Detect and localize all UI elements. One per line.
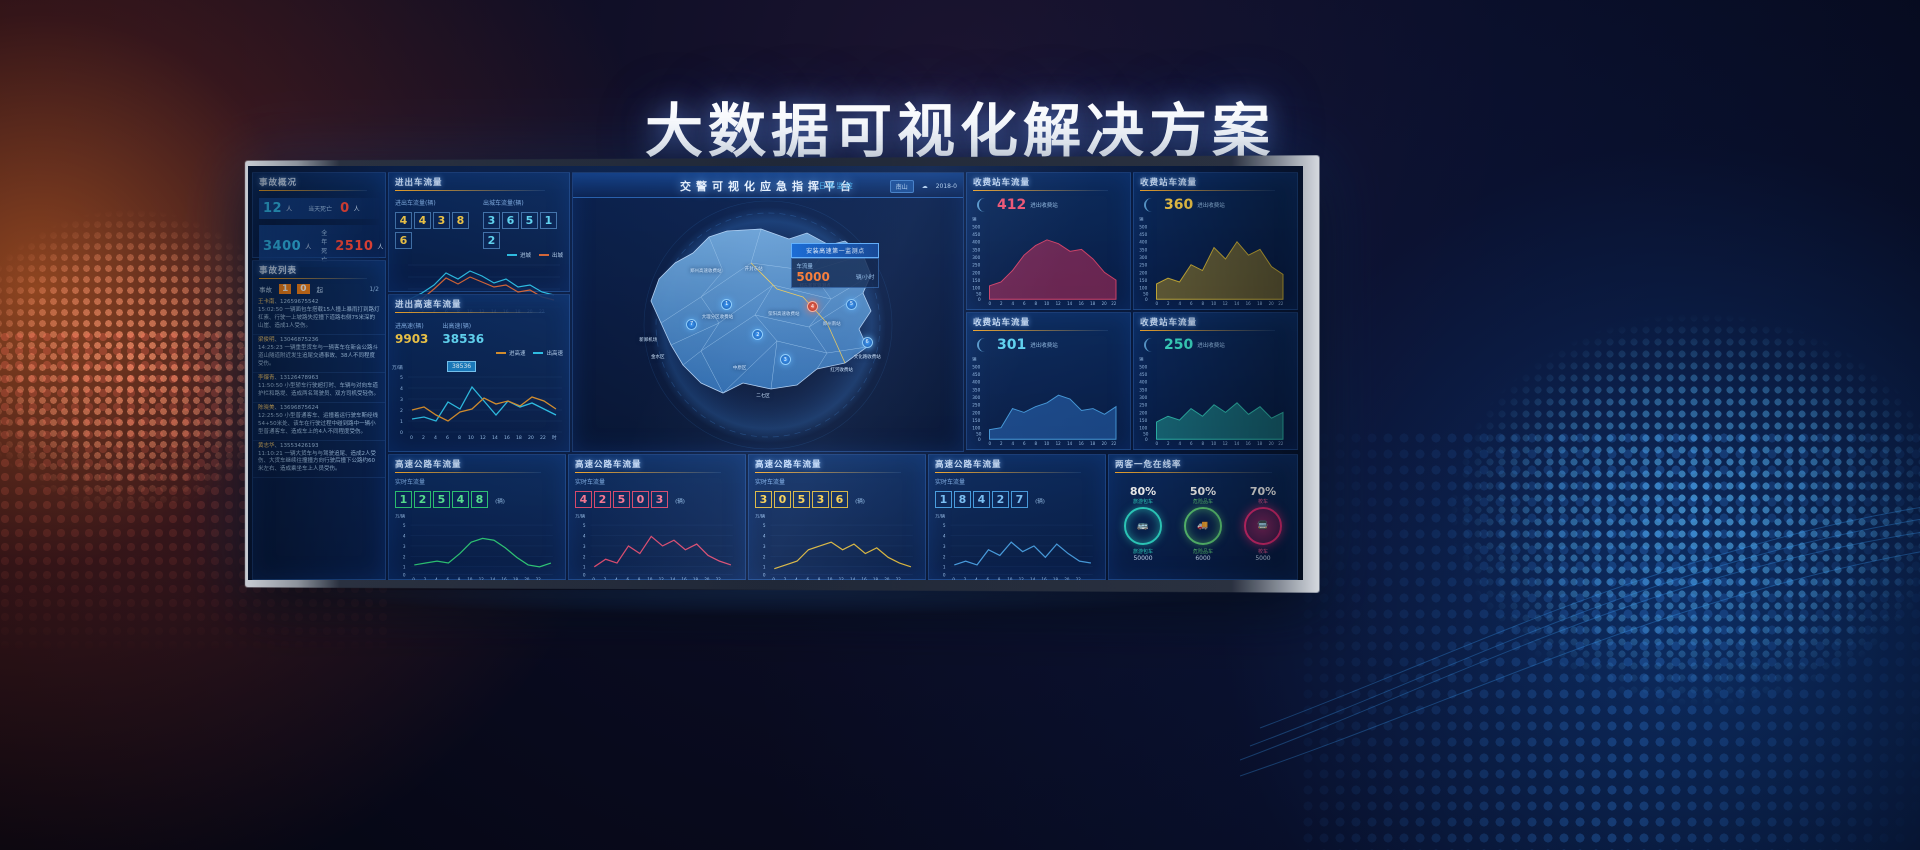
toll-chart-3: 辆 500450400 350300250 200150100 500 024 … xyxy=(967,353,1127,445)
map-poi-5[interactable]: 5 xyxy=(846,299,857,310)
list-item-name: 梁俊明 xyxy=(258,337,275,343)
map-label: 金水区 xyxy=(651,354,665,360)
svg-text:12: 12 xyxy=(1056,441,1062,445)
today-total-unit: 人 xyxy=(286,204,292,213)
svg-text:150: 150 xyxy=(972,278,980,283)
svg-text:4: 4 xyxy=(975,577,978,580)
svg-text:4: 4 xyxy=(1012,441,1015,445)
svg-text:4: 4 xyxy=(763,533,766,538)
accident-count-row: 事故 1 0 起 1/2 xyxy=(253,281,385,297)
svg-text:18: 18 xyxy=(1090,441,1096,445)
gauge-pct: 70% xyxy=(1244,485,1282,498)
svg-text:2: 2 xyxy=(400,408,403,414)
gauge-count: 50000 xyxy=(1124,555,1162,562)
svg-text:14: 14 xyxy=(1234,301,1240,305)
highway-digits: 12548 (辆) xyxy=(389,486,565,508)
svg-text:10: 10 xyxy=(1211,441,1217,445)
highway-chart-1: 万/辆 543 210 024 6810 121416 182022 xyxy=(389,508,561,580)
svg-text:0: 0 xyxy=(400,430,403,436)
highway-sub: 实时车流量 xyxy=(569,475,745,486)
accident-list-pager[interactable]: 1/2 xyxy=(369,286,379,293)
svg-text:6: 6 xyxy=(627,577,630,580)
platform-mode-tag[interactable]: 日常监控 xyxy=(819,181,855,191)
signal-icon xyxy=(1144,338,1160,352)
svg-text:14: 14 xyxy=(670,577,676,580)
panel-highway-4: 高速公路车流量 实时车流量 18427 (辆) 万/辆 543 210 xyxy=(928,454,1106,580)
year-death-label: 全年死亡 xyxy=(321,228,327,264)
inout-out-sub: 出城车流量(辆) xyxy=(483,196,563,207)
map-label: 红河收费站 xyxy=(830,367,853,373)
highway-digits: 42503 (辆) xyxy=(569,486,745,508)
svg-text:6: 6 xyxy=(1023,441,1026,445)
svg-text:20: 20 xyxy=(528,435,534,441)
panel-highway-1: 高速公路车流量 实时车流量 12548 (辆) 万/辆 543 210 xyxy=(388,454,566,580)
list-item[interactable]: 李爆青、13126478963 11:50:50 小型轿车行驶超打时、车辆与对向… xyxy=(253,373,385,403)
svg-text:辆: 辆 xyxy=(1139,216,1143,223)
svg-text:50: 50 xyxy=(1143,291,1149,296)
toll-kpi: 301 进出收费站 xyxy=(967,333,1130,353)
svg-text:2: 2 xyxy=(763,554,766,559)
svg-text:2: 2 xyxy=(1167,301,1170,305)
list-item[interactable]: 黄志华、13553426193 11:10:21 一辆大货车与与驾驶追尾、造成2… xyxy=(253,441,385,479)
svg-text:4: 4 xyxy=(400,386,403,392)
svg-text:2: 2 xyxy=(1000,301,1003,305)
svg-text:10: 10 xyxy=(1007,577,1013,580)
gauge-type-label: 危险品车 xyxy=(1184,548,1222,555)
toll-label: 进出收费站 xyxy=(1197,341,1225,349)
year-death-unit: 人 xyxy=(377,242,383,251)
gauge-hazmat-truck[interactable]: 50% 危险品车 🚚 危险品车 6000 xyxy=(1184,485,1222,562)
svg-text:0: 0 xyxy=(403,572,406,577)
svg-text:18: 18 xyxy=(1053,577,1059,580)
svg-text:万/辆: 万/辆 xyxy=(575,512,585,518)
svg-text:万/辆: 万/辆 xyxy=(755,512,765,518)
highway-chart-3: 万/辆 543 210 024 6810 121416 182022 xyxy=(749,508,921,580)
list-item-time: 15:02:50 xyxy=(258,307,283,313)
dashboard-canvas: 事故概况 12 人 当天死亡 0 人 3400 人 全年死亡 2510 人 xyxy=(248,166,1303,580)
svg-text:6: 6 xyxy=(447,577,450,580)
svg-text:22: 22 xyxy=(1278,301,1284,305)
highway-inout-title: 进出高速车流量 xyxy=(389,295,569,315)
svg-text:1: 1 xyxy=(403,565,406,570)
list-item-name: 李爆青 xyxy=(258,375,275,381)
svg-text:4: 4 xyxy=(583,533,586,538)
svg-text:100: 100 xyxy=(972,286,980,291)
online-rate-title: 两客一危在线率 xyxy=(1109,455,1297,475)
highway-title: 高速公路车流量 xyxy=(569,455,745,475)
svg-text:450: 450 xyxy=(972,372,980,377)
inout-in-block: 进出车流量(辆) 44386 xyxy=(395,196,475,249)
accident-count-unit: 起 xyxy=(317,284,324,294)
province-map xyxy=(573,197,963,451)
svg-text:辆: 辆 xyxy=(972,356,976,363)
svg-text:16: 16 xyxy=(1246,441,1252,445)
gauge-tour-bus[interactable]: 80% 旅游包车 🚌 旅游包车 50000 xyxy=(1124,485,1162,562)
svg-text:10: 10 xyxy=(468,435,474,441)
map-label: 荥阳高速收费站 xyxy=(768,311,800,317)
inout-flow-title: 进出车流量 xyxy=(389,173,569,193)
screen-glow xyxy=(300,590,1250,616)
svg-text:22: 22 xyxy=(1278,441,1284,445)
stat-row-today: 12 人 当天死亡 0 人 xyxy=(259,198,379,219)
svg-text:10: 10 xyxy=(647,577,653,580)
highway-title: 高速公路车流量 xyxy=(389,455,565,475)
list-item-time: 11:50:50 xyxy=(258,383,283,389)
panel-toll-1: 收费站车流量 412 进出收费站 辆 500450400 350300250 2… xyxy=(966,172,1131,310)
list-item[interactable]: 陈晓美、13696875624 12:25:50 小型普通客车、运撞着运行驶车斯… xyxy=(253,403,385,441)
list-item[interactable]: 梁俊明、13046875236 14:25:23 一辆重型货车与一辆客车在新会公… xyxy=(253,335,385,373)
svg-text:8: 8 xyxy=(818,577,821,580)
schoolbus-icon: 🚍 xyxy=(1244,507,1282,545)
accident-overview-title: 事故概况 xyxy=(253,173,385,193)
svg-text:10: 10 xyxy=(1044,441,1050,445)
svg-text:0: 0 xyxy=(1145,437,1148,442)
svg-text:20: 20 xyxy=(1269,441,1275,445)
svg-text:辆: 辆 xyxy=(1139,356,1143,363)
svg-text:12: 12 xyxy=(480,435,486,441)
map-label: 文化路收费站 xyxy=(854,354,881,360)
svg-text:10: 10 xyxy=(1211,301,1217,305)
map-label: 开封东站 xyxy=(745,266,763,272)
highway-sub: 实时车流量 xyxy=(389,475,565,486)
gauge-name: 校车 xyxy=(1244,498,1282,505)
svg-text:1: 1 xyxy=(400,419,403,425)
panel-toll-3: 收费站车流量 301 进出收费站 辆 500450400 350300250 2… xyxy=(966,312,1131,450)
svg-text:500: 500 xyxy=(1139,224,1147,229)
svg-text:350: 350 xyxy=(1139,387,1147,392)
svg-text:10: 10 xyxy=(467,577,473,580)
svg-text:8: 8 xyxy=(1035,441,1038,445)
panel-inout-flow: 进出车流量 进出车流量(辆) 44386 出城车流量(辆) 36512 xyxy=(388,172,570,292)
svg-text:万/辆: 万/辆 xyxy=(392,364,403,371)
list-item-phone: 、13126478963 xyxy=(275,375,319,381)
svg-text:4: 4 xyxy=(943,533,946,538)
svg-text:5: 5 xyxy=(403,523,406,528)
svg-text:3: 3 xyxy=(583,544,586,549)
highway-digits: 30536 (辆) xyxy=(749,486,925,508)
list-item-phone: 、12659675542 xyxy=(275,299,319,305)
svg-text:2: 2 xyxy=(943,554,946,559)
svg-text:100: 100 xyxy=(972,426,980,431)
svg-text:18: 18 xyxy=(516,435,522,441)
svg-text:500: 500 xyxy=(972,364,980,369)
svg-text:4: 4 xyxy=(434,435,437,441)
svg-text:150: 150 xyxy=(1139,418,1147,423)
svg-text:4: 4 xyxy=(615,577,618,580)
list-item-name: 黄志华 xyxy=(258,443,275,449)
gauge-type-label: 旅游包车 xyxy=(1124,548,1162,555)
svg-text:8: 8 xyxy=(1202,441,1205,445)
list-item-time: 14:25:23 xyxy=(258,345,283,351)
svg-text:250: 250 xyxy=(1139,263,1147,268)
svg-text:12: 12 xyxy=(479,577,485,580)
toll-value: 301 xyxy=(997,337,1026,353)
svg-text:16: 16 xyxy=(502,577,508,580)
map-poi-6[interactable]: 6 xyxy=(862,337,873,348)
svg-text:5: 5 xyxy=(943,523,946,528)
list-item-phone: 、13553426193 xyxy=(275,443,319,449)
svg-text:16: 16 xyxy=(1079,301,1085,305)
list-item-name: 王卡南 xyxy=(258,299,275,305)
year-death-value: 2510 xyxy=(335,239,373,254)
accident-list-body[interactable]: 王卡南、12659675542 15:02:50 一辆面包车搭载15人撞上暴雨打… xyxy=(253,297,385,478)
map-label: 新郑机场 xyxy=(639,337,657,343)
svg-text:18: 18 xyxy=(1257,441,1263,445)
svg-text:12: 12 xyxy=(1019,577,1025,580)
svg-text:350: 350 xyxy=(1139,247,1147,252)
svg-text:18: 18 xyxy=(693,577,699,580)
gauge-count: 5000 xyxy=(1244,555,1282,562)
svg-text:14: 14 xyxy=(1234,441,1240,445)
svg-text:500: 500 xyxy=(972,224,980,229)
svg-text:0: 0 xyxy=(978,297,981,302)
svg-text:300: 300 xyxy=(1139,395,1147,400)
svg-text:1: 1 xyxy=(943,565,946,570)
year-total-unit: 人 xyxy=(305,242,311,251)
svg-text:18: 18 xyxy=(1257,301,1263,305)
signal-icon xyxy=(977,338,993,352)
svg-text:2: 2 xyxy=(964,577,967,580)
svg-text:12: 12 xyxy=(1223,441,1229,445)
list-item-name: 陈晓美 xyxy=(258,405,275,411)
svg-text:200: 200 xyxy=(1139,410,1147,415)
svg-text:22: 22 xyxy=(896,577,902,580)
svg-text:0: 0 xyxy=(1156,441,1159,445)
panel-accident-list: 事故列表 事故 1 0 起 1/2 王卡南、12659675542 15:02:… xyxy=(252,260,386,580)
svg-text:8: 8 xyxy=(458,577,461,580)
signal-icon xyxy=(977,198,993,212)
toll-kpi: 412 进出收费站 xyxy=(967,193,1130,213)
location-badge[interactable]: 南山 xyxy=(890,180,914,193)
svg-text:2: 2 xyxy=(403,554,406,559)
gauge-count: 6000 xyxy=(1184,555,1222,562)
svg-text:20: 20 xyxy=(1102,301,1108,305)
svg-text:300: 300 xyxy=(1139,255,1147,260)
svg-text:4: 4 xyxy=(795,577,798,580)
highway-sub: 实时车流量 xyxy=(749,475,925,486)
svg-text:100: 100 xyxy=(1139,426,1147,431)
toll-label: 进出收费站 xyxy=(1197,201,1225,209)
header-right-meta: 南山 ☁ 2018-0 xyxy=(890,180,957,193)
svg-text:14: 14 xyxy=(490,577,496,580)
svg-text:300: 300 xyxy=(972,255,980,260)
panel-accident-overview: 事故概况 12 人 当天死亡 0 人 3400 人 全年死亡 2510 人 xyxy=(252,172,386,258)
svg-text:8: 8 xyxy=(1035,301,1038,305)
signal-icon xyxy=(1144,198,1160,212)
highway-in-sub: 进高速(辆) xyxy=(395,319,428,330)
toll-title: 收费站车流量 xyxy=(1134,313,1297,333)
map-label: 中原区 xyxy=(733,365,747,371)
dashboard-header: 交警可视化应急指挥平台 日常监控 南山 ☁ 2018-0 xyxy=(573,173,963,198)
svg-text:4: 4 xyxy=(435,577,438,580)
panel-online-rate: 两客一危在线率 80% 旅游包车 🚌 旅游包车 50000 50% 危险品车 🚚… xyxy=(1108,454,1298,580)
toll-title: 收费站车流量 xyxy=(1134,173,1297,193)
svg-text:2: 2 xyxy=(424,577,427,580)
svg-text:0: 0 xyxy=(583,572,586,577)
panel-highway-3: 高速公路车流量 实时车流量 30536 (辆) 万/辆 543 210 xyxy=(748,454,926,580)
toll-value: 250 xyxy=(1164,337,1193,353)
toll-value: 412 xyxy=(997,197,1026,213)
svg-text:300: 300 xyxy=(972,395,980,400)
svg-text:10: 10 xyxy=(827,577,833,580)
svg-text:200: 200 xyxy=(972,270,980,275)
map-poi-1[interactable]: 1 xyxy=(721,299,732,310)
svg-text:0: 0 xyxy=(1145,297,1148,302)
today-total-value: 12 xyxy=(263,201,282,216)
toll-value: 360 xyxy=(1164,197,1193,213)
inout-in-sub: 进出车流量(辆) xyxy=(395,196,475,207)
svg-text:2: 2 xyxy=(422,435,425,441)
toll-label: 进出收费站 xyxy=(1030,201,1058,209)
svg-text:16: 16 xyxy=(682,577,688,580)
svg-text:16: 16 xyxy=(1042,577,1048,580)
callout-label: 车流量 xyxy=(796,262,874,270)
year-total-value: 3400 xyxy=(263,239,301,254)
inout-legend: 进城 出城 xyxy=(389,251,569,259)
svg-text:14: 14 xyxy=(850,577,856,580)
svg-text:6: 6 xyxy=(1190,301,1193,305)
svg-text:4: 4 xyxy=(1012,301,1015,305)
highway-in-value: 9903 xyxy=(395,332,428,346)
svg-text:5: 5 xyxy=(583,523,586,528)
svg-text:22: 22 xyxy=(540,435,546,441)
svg-text:12: 12 xyxy=(1056,301,1062,305)
list-item-phone: 、13696875624 xyxy=(275,405,319,411)
svg-text:22: 22 xyxy=(1076,577,1082,580)
svg-text:400: 400 xyxy=(1139,380,1147,385)
list-item-time: 12:25:50 xyxy=(258,413,283,419)
svg-text:6: 6 xyxy=(1023,301,1026,305)
svg-text:辆: 辆 xyxy=(972,216,976,223)
svg-text:50: 50 xyxy=(976,431,982,436)
page-title: 大数据可视化解决方案 xyxy=(0,84,1920,168)
svg-text:450: 450 xyxy=(1139,372,1147,377)
svg-text:0: 0 xyxy=(943,572,946,577)
svg-text:20: 20 xyxy=(884,577,890,580)
svg-text:400: 400 xyxy=(1139,240,1147,245)
svg-text:万/辆: 万/辆 xyxy=(935,512,945,518)
svg-text:14: 14 xyxy=(1067,441,1073,445)
callout-unit: 辆/小时 xyxy=(856,273,874,281)
header-date: 2018-0 xyxy=(936,183,957,190)
truck-icon: 🚚 xyxy=(1184,507,1222,545)
svg-text:2: 2 xyxy=(784,577,787,580)
svg-text:12: 12 xyxy=(839,577,845,580)
svg-text:400: 400 xyxy=(972,380,980,385)
svg-text:20: 20 xyxy=(1269,301,1275,305)
svg-text:3: 3 xyxy=(943,544,946,549)
svg-text:14: 14 xyxy=(492,435,498,441)
gauge-type-label: 校车 xyxy=(1244,548,1282,555)
svg-text:250: 250 xyxy=(1139,403,1147,408)
toll-kpi: 360 进出收费站 xyxy=(1134,193,1297,213)
svg-text:6: 6 xyxy=(987,577,990,580)
svg-text:8: 8 xyxy=(458,435,461,441)
svg-text:6: 6 xyxy=(1190,441,1193,445)
svg-text:8: 8 xyxy=(998,577,1001,580)
toll-label: 进出收费站 xyxy=(1030,341,1058,349)
highway-inout-chart: 万/辆 543 210 024 6810 xyxy=(389,357,567,441)
svg-text:0: 0 xyxy=(989,441,992,445)
map-canvas[interactable]: 1 2 3 4 5 6 7 郑州高速收费站 开封东站 大理分区收费站 荥阳高速收… xyxy=(573,197,963,451)
svg-text:5: 5 xyxy=(763,523,766,528)
svg-text:22: 22 xyxy=(716,577,722,580)
toll-chart-2: 辆 500450400 350300250 200150100 500 024 … xyxy=(1134,213,1294,305)
svg-text:400: 400 xyxy=(972,240,980,245)
svg-text:150: 150 xyxy=(1139,278,1147,283)
svg-text:3: 3 xyxy=(763,544,766,549)
svg-text:20: 20 xyxy=(704,577,710,580)
highway-chart-4: 万/辆 543 210 024 6810 121416 182022 xyxy=(929,508,1101,580)
map-label: 大理分区收费站 xyxy=(702,314,734,320)
highway-chart-2: 万/辆 543 210 024 6810 121416 182022 xyxy=(569,508,741,580)
svg-text:2: 2 xyxy=(1167,441,1170,445)
panel-toll-2: 收费站车流量 360 进出收费站 辆 500450400 350300250 2… xyxy=(1133,172,1298,310)
highway-title: 高速公路车流量 xyxy=(749,455,925,475)
callout-value: 5000 xyxy=(796,270,829,284)
svg-text:14: 14 xyxy=(1030,577,1036,580)
svg-text:1: 1 xyxy=(763,565,766,570)
svg-text:0: 0 xyxy=(952,577,955,580)
svg-text:6: 6 xyxy=(446,435,449,441)
map-callout: 安装高速第一监测点 车流量 5000 辆/小时 xyxy=(791,243,879,288)
svg-text:8: 8 xyxy=(638,577,641,580)
today-death-value: 0 xyxy=(340,201,350,216)
highway-out-sub: 出高速(辆) xyxy=(442,319,484,330)
svg-text:16: 16 xyxy=(504,435,510,441)
gauge-school-bus[interactable]: 70% 校车 🚍 校车 5000 xyxy=(1244,485,1282,562)
svg-text:0: 0 xyxy=(772,577,775,580)
toll-kpi: 250 进出收费站 xyxy=(1134,333,1297,353)
svg-text:0: 0 xyxy=(1156,301,1159,305)
map-poi-7[interactable]: 7 xyxy=(686,319,697,330)
svg-text:6: 6 xyxy=(807,577,810,580)
map-label: 郑州高速收费站 xyxy=(690,268,722,274)
svg-text:450: 450 xyxy=(1139,232,1147,237)
svg-text:时: 时 xyxy=(552,434,557,441)
svg-text:12: 12 xyxy=(659,577,665,580)
svg-text:18: 18 xyxy=(513,577,519,580)
highway-digits: 18427 (辆) xyxy=(929,486,1105,508)
svg-text:3: 3 xyxy=(400,397,403,403)
svg-text:500: 500 xyxy=(1139,364,1147,369)
svg-text:万/辆: 万/辆 xyxy=(395,512,405,518)
svg-text:450: 450 xyxy=(972,232,980,237)
inout-out-block: 出城车流量(辆) 36512 xyxy=(483,196,563,249)
svg-text:50: 50 xyxy=(1143,431,1149,436)
svg-text:5: 5 xyxy=(400,375,403,381)
svg-text:2: 2 xyxy=(1000,441,1003,445)
svg-text:22: 22 xyxy=(536,577,542,580)
panel-highway-2: 高速公路车流量 实时车流量 42503 (辆) 万/辆 543 210 xyxy=(568,454,746,580)
highway-out-value: 38536 xyxy=(442,332,484,346)
svg-text:14: 14 xyxy=(1067,301,1073,305)
svg-text:0: 0 xyxy=(410,435,413,441)
panel-map: 交警可视化应急指挥平台 日常监控 南山 ☁ 2018-0 xyxy=(572,172,964,452)
svg-text:20: 20 xyxy=(1102,441,1108,445)
map-label: 郑州南站 xyxy=(823,321,841,327)
gauge-pct: 80% xyxy=(1124,485,1162,498)
inout-in-digits: 44386 xyxy=(395,209,475,249)
highway-tooltip: 38536 xyxy=(447,361,476,372)
svg-text:18: 18 xyxy=(1090,301,1096,305)
svg-text:16: 16 xyxy=(1079,441,1085,445)
svg-text:0: 0 xyxy=(989,301,992,305)
list-item[interactable]: 王卡南、12659675542 15:02:50 一辆面包车搭载15人撞上暴雨打… xyxy=(253,297,385,335)
panel-toll-4: 收费站车流量 250 进出收费站 辆 500450400 350300250 2… xyxy=(1133,312,1298,450)
cloud-icon: ☁ xyxy=(922,183,928,190)
accident-count-digit-1: 1 xyxy=(279,284,291,294)
